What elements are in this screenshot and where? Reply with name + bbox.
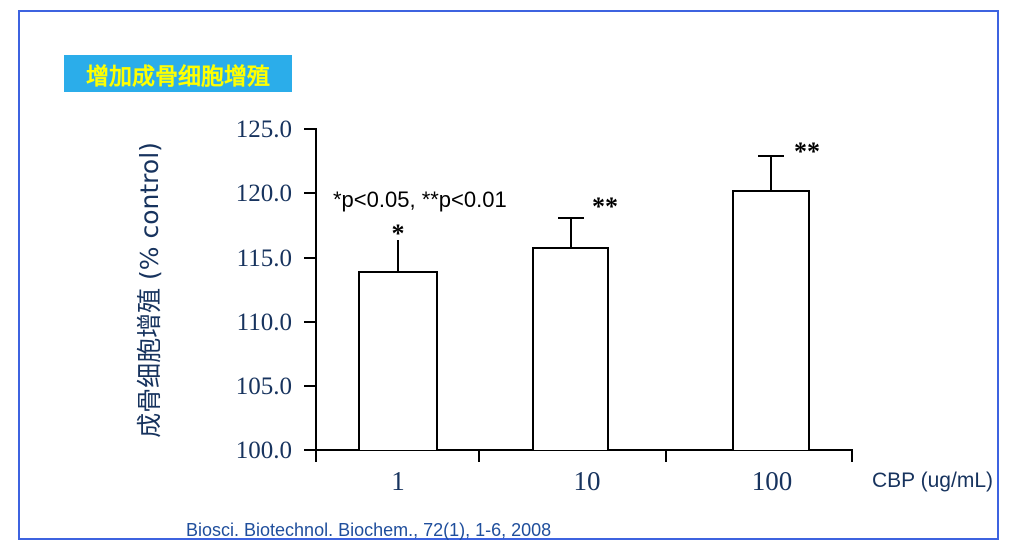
y-tick-label-115: 115.0: [200, 245, 292, 273]
y-tick-115: [304, 257, 316, 259]
x-tick-1: [478, 449, 480, 462]
x-tick-0: [315, 449, 317, 462]
bar-1: [358, 271, 438, 450]
y-tick-label-125: 125.0: [200, 116, 292, 144]
error-bar-cap-2: [558, 217, 584, 219]
x-tick-2: [665, 449, 667, 462]
p-value-annotation: *p<0.05, **p<0.01: [333, 187, 507, 213]
error-bar-cap-3: [758, 155, 784, 157]
bar-3: [732, 190, 810, 450]
citation-text: Biosci. Biotechnol. Biochem., 72(1), 1-6…: [186, 520, 551, 541]
significance-marker-1: *: [392, 219, 405, 249]
error-bar-line-2: [570, 217, 572, 248]
x-tick-label-10: 10: [574, 466, 601, 497]
x-tick-label-100: 100: [752, 466, 793, 497]
y-tick-label-110: 110.0: [200, 309, 292, 337]
y-tick-label-100: 100.0: [200, 437, 292, 465]
error-bar-line-3: [770, 155, 772, 191]
significance-marker-2: **: [592, 192, 618, 222]
x-axis-title: CBP (ug/mL): [872, 469, 993, 493]
y-tick-120: [304, 192, 316, 194]
y-tick-label-120: 120.0: [200, 180, 292, 208]
y-axis-title: 成骨细胞增殖 (% control): [133, 130, 167, 450]
bar-2: [532, 247, 609, 450]
slide-frame: 增加成骨细胞增殖 125.0 120.0 115.0 110.0 105.0 1…: [18, 10, 999, 540]
y-tick-110: [304, 321, 316, 323]
y-tick-125: [304, 128, 316, 130]
x-tick-3: [851, 449, 853, 462]
y-axis-line: [315, 128, 317, 451]
x-tick-label-1: 1: [391, 466, 405, 497]
slide-canvas: 增加成骨细胞增殖 125.0 120.0 115.0 110.0 105.0 1…: [0, 0, 1017, 552]
y-tick-label-105: 105.0: [200, 373, 292, 401]
significance-marker-3: **: [794, 137, 820, 167]
chart-plot-area: 125.0 120.0 115.0 110.0 105.0 100.0 成骨细胞…: [20, 12, 997, 538]
y-tick-105: [304, 385, 316, 387]
